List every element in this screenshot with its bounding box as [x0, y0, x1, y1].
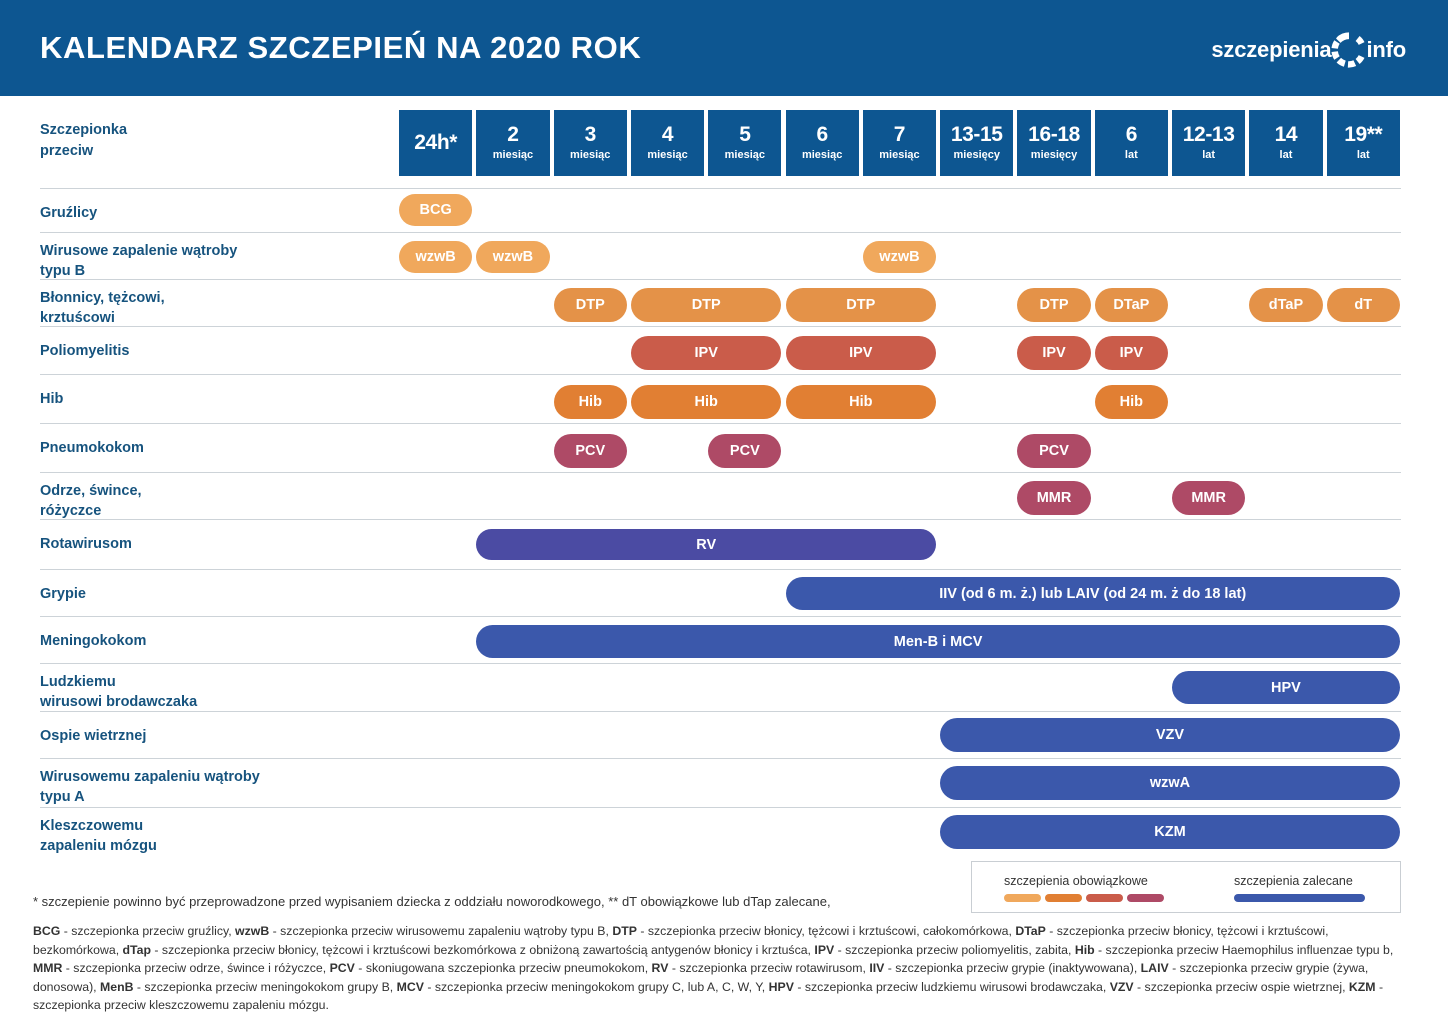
- row-divider: [40, 374, 1401, 375]
- vaccine-pill-hib[interactable]: Hib: [786, 385, 937, 419]
- column-header-9: 16-18miesięcy: [1017, 110, 1090, 176]
- legend-swatch: [1086, 894, 1123, 902]
- row-divider: [40, 616, 1401, 617]
- vaccine-pill-mmr[interactable]: MMR: [1172, 481, 1245, 515]
- column-header-unit: miesięcy: [940, 150, 1013, 161]
- vaccine-pill-dtp[interactable]: DTP: [1017, 288, 1090, 322]
- row-label-4: Poliomyelitis: [40, 341, 129, 361]
- row-label-line: wirusowi brodawczaka: [40, 692, 197, 712]
- column-header-unit: lat: [1249, 150, 1322, 161]
- vaccine-pill-bcg[interactable]: BCG: [399, 194, 472, 226]
- column-header-11: 12-13lat: [1172, 110, 1245, 176]
- row-label-6: Pneumokokom: [40, 438, 144, 458]
- row-label-line: zapaleniu mózgu: [40, 836, 157, 856]
- row-divider: [40, 188, 1401, 189]
- vaccine-pill-hpv[interactable]: HPV: [1172, 671, 1400, 704]
- row-label-column-header: Szczepionka przeciw: [40, 120, 127, 162]
- column-header-unit: miesiąc: [708, 150, 781, 161]
- column-header-unit: miesiąc: [554, 150, 627, 161]
- legend-mandatory: szczepienia obowiązkowe: [1004, 874, 1164, 902]
- calendar-row: Wirusowe zapalenie wątrobytypu B: [40, 232, 1401, 279]
- row-label-line: Grypie: [40, 584, 86, 604]
- vaccination-calendar-infographic: KALENDARZ SZCZEPIEŃ NA 2020 ROK szczepie…: [0, 0, 1448, 1024]
- column-header-value: 7: [863, 124, 936, 145]
- vaccine-pill-pcv[interactable]: PCV: [1017, 434, 1090, 468]
- vaccine-pill-ipv[interactable]: IPV: [1017, 336, 1090, 370]
- column-header-2: 2miesiąc: [476, 110, 549, 176]
- column-header-value: 5: [708, 124, 781, 145]
- row-divider: [40, 569, 1401, 570]
- row-label-5: Hib: [40, 389, 63, 409]
- column-header-4: 4miesiąc: [631, 110, 704, 176]
- row-label-12: Ospie wietrznej: [40, 726, 146, 746]
- row-label-10: Meningokokom: [40, 631, 146, 651]
- column-header-value: 13-15: [940, 124, 1013, 145]
- column-header-unit: miesiąc: [631, 150, 704, 161]
- column-header-13: 19**lat: [1327, 110, 1400, 176]
- row-label-2: Wirusowe zapalenie wątrobytypu B: [40, 241, 237, 281]
- vaccine-pill-wzwa[interactable]: wzwA: [940, 766, 1400, 800]
- abbreviation-legend-text: BCG - szczepionka przeciw gruźlicy, wzwB…: [33, 922, 1413, 1015]
- footnote-asterisk-note: * szczepienie powinno być przeprowadzone…: [33, 894, 831, 909]
- row-label-1: Gruźlicy: [40, 203, 97, 223]
- vaccine-pill-dtp[interactable]: DTP: [631, 288, 782, 322]
- row-label-line: Ludzkiemu: [40, 672, 197, 692]
- vaccine-pill-rv[interactable]: RV: [476, 529, 936, 560]
- row-label-line: Pneumokokom: [40, 438, 144, 458]
- vaccine-pill-ipv[interactable]: IPV: [786, 336, 937, 370]
- vaccine-pill-hib[interactable]: Hib: [554, 385, 627, 419]
- column-header-unit: miesiąc: [476, 150, 549, 161]
- row-label-line: Ospie wietrznej: [40, 726, 146, 746]
- vaccine-pill-men-b-i-mcv[interactable]: Men-B i MCV: [476, 625, 1400, 658]
- column-header-value: 19**: [1327, 124, 1400, 145]
- column-header-unit: lat: [1327, 150, 1400, 161]
- column-header-12: 14lat: [1249, 110, 1322, 176]
- column-header-value: 24h*: [399, 132, 472, 153]
- row-divider: [40, 663, 1401, 664]
- column-header-6: 6miesiąc: [786, 110, 859, 176]
- row-divider: [40, 423, 1401, 424]
- legend-box: szczepienia obowiązkowe szczepienia zale…: [971, 861, 1401, 913]
- row-label-line: Odrze, śwince,: [40, 481, 142, 501]
- vaccine-pill-kzm[interactable]: KZM: [940, 815, 1400, 849]
- szczepienia-info-logo[interactable]: szczepienia in: [1211, 30, 1406, 70]
- row-label-9: Grypie: [40, 584, 86, 604]
- row-label-line: Gruźlicy: [40, 203, 97, 223]
- column-header-value: 3: [554, 124, 627, 145]
- row-label-header-line-1: Szczepionka: [40, 120, 127, 141]
- row-divider: [40, 279, 1401, 280]
- calendar-row: Gruźlicy: [40, 188, 1401, 232]
- row-divider: [40, 519, 1401, 520]
- row-divider: [40, 326, 1401, 327]
- row-divider: [40, 232, 1401, 233]
- legend-swatch: [1234, 894, 1365, 902]
- column-header-10: 6lat: [1095, 110, 1168, 176]
- row-label-8: Rotawirusom: [40, 534, 132, 554]
- row-label-line: Hib: [40, 389, 63, 409]
- column-header-value: 4: [631, 124, 704, 145]
- row-divider: [40, 807, 1401, 808]
- vaccine-pill-pcv[interactable]: PCV: [554, 434, 627, 468]
- column-header-value: 16-18: [1017, 124, 1090, 145]
- legend-recommended: szczepienia zalecane: [1234, 874, 1365, 902]
- vaccine-pill-hib[interactable]: Hib: [631, 385, 782, 419]
- column-header-value: 12-13: [1172, 124, 1245, 145]
- logo-text-szczepienia: szczepienia: [1211, 37, 1331, 63]
- row-label-11: Ludzkiemuwirusowi brodawczaka: [40, 672, 197, 712]
- legend-mandatory-label: szczepienia obowiązkowe: [1004, 874, 1164, 888]
- vaccine-pill-iiv-od-6-m-lub-laiv-od-24-m-do-18-lat[interactable]: IIV (od 6 m. ż.) lub LAIV (od 24 m. ż do…: [786, 577, 1400, 610]
- vaccine-pill-dtap[interactable]: DTaP: [1095, 288, 1168, 322]
- column-header-unit: miesiąc: [786, 150, 859, 161]
- header-bar: KALENDARZ SZCZEPIEŃ NA 2020 ROK szczepie…: [0, 0, 1448, 96]
- row-label-3: Błonnicy, tężcowi,krztuścowi: [40, 288, 165, 328]
- row-divider: [40, 711, 1401, 712]
- column-header-value: 6: [786, 124, 859, 145]
- vaccine-pill-ipv[interactable]: IPV: [1095, 336, 1168, 370]
- row-label-line: typu B: [40, 261, 237, 281]
- row-label-line: Kleszczowemu: [40, 816, 157, 836]
- row-label-header-line-2: przeciw: [40, 141, 127, 162]
- row-label-line: krztuścowi: [40, 308, 165, 328]
- column-header-5: 5miesiąc: [708, 110, 781, 176]
- legend-swatch: [1045, 894, 1082, 902]
- legend-recommended-label: szczepienia zalecane: [1234, 874, 1365, 888]
- row-label-line: Meningokokom: [40, 631, 146, 651]
- logo-text-info: info: [1366, 37, 1406, 63]
- column-header-unit: lat: [1172, 150, 1245, 161]
- column-header-unit: lat: [1095, 150, 1168, 161]
- vaccine-pill-ipv[interactable]: IPV: [631, 336, 782, 370]
- row-label-line: Błonnicy, tężcowi,: [40, 288, 165, 308]
- vaccine-pill-dtp[interactable]: DTP: [786, 288, 937, 322]
- vaccine-pill-vzv[interactable]: VZV: [940, 718, 1400, 752]
- column-header-value: 2: [476, 124, 549, 145]
- row-label-line: Poliomyelitis: [40, 341, 129, 361]
- row-label-7: Odrze, śwince,różyczce: [40, 481, 142, 521]
- row-label-line: typu A: [40, 787, 260, 807]
- vaccine-pill-pcv[interactable]: PCV: [708, 434, 781, 468]
- vaccine-pill-mmr[interactable]: MMR: [1017, 481, 1090, 515]
- column-header-7: 7miesiąc: [863, 110, 936, 176]
- column-header-value: 14: [1249, 124, 1322, 145]
- row-divider: [40, 472, 1401, 473]
- row-label-line: różyczce: [40, 501, 142, 521]
- legend-swatch: [1004, 894, 1041, 902]
- legend-recommended-swatches: [1234, 894, 1365, 902]
- vaccine-pill-dtp[interactable]: DTP: [554, 288, 627, 322]
- column-header-unit: miesięcy: [1017, 150, 1090, 161]
- column-header-1: 24h*: [399, 110, 472, 176]
- row-label-14: Kleszczowemuzapaleniu mózgu: [40, 816, 157, 856]
- vaccine-pill-wzwb[interactable]: wzwB: [476, 241, 549, 273]
- vaccine-pill-wzwb[interactable]: wzwB: [399, 241, 472, 273]
- page-title: KALENDARZ SZCZEPIEŃ NA 2020 ROK: [40, 30, 641, 66]
- segmented-c-circle-icon: [1329, 30, 1369, 70]
- legend-mandatory-swatches: [1004, 894, 1164, 902]
- row-label-line: Wirusowe zapalenie wątroby: [40, 241, 237, 261]
- column-header-value: 6: [1095, 124, 1168, 145]
- row-label-13: Wirusowemu zapaleniu wątrobytypu A: [40, 767, 260, 807]
- vaccine-pill-wzwb[interactable]: wzwB: [863, 241, 936, 273]
- column-header-unit: miesiąc: [863, 150, 936, 161]
- column-header-3: 3miesiąc: [554, 110, 627, 176]
- column-header-8: 13-15miesięcy: [940, 110, 1013, 176]
- row-divider: [40, 758, 1401, 759]
- legend-swatch: [1127, 894, 1164, 902]
- row-label-line: Wirusowemu zapaleniu wątroby: [40, 767, 260, 787]
- vaccine-pill-dt[interactable]: dT: [1327, 288, 1400, 322]
- vaccine-pill-dtap[interactable]: dTaP: [1249, 288, 1322, 322]
- row-label-line: Rotawirusom: [40, 534, 132, 554]
- vaccine-pill-hib[interactable]: Hib: [1095, 385, 1168, 419]
